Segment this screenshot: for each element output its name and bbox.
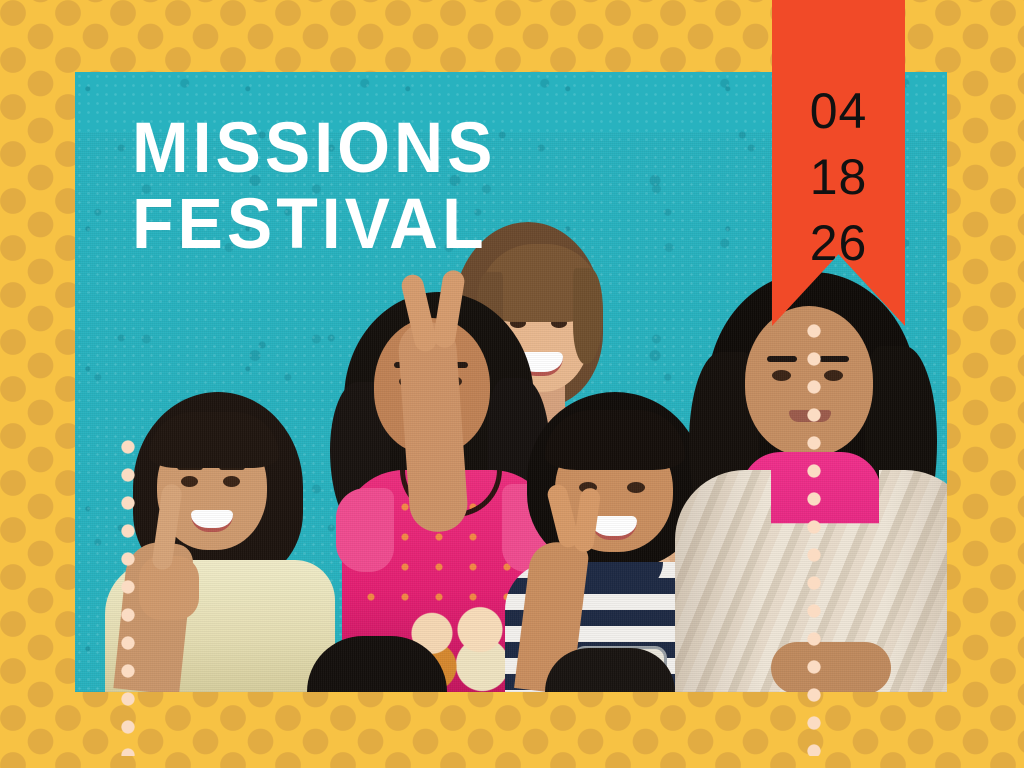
child-striped-fringe	[545, 410, 685, 470]
girl-pink-sleeve-left	[336, 488, 394, 572]
dotted-line-left	[121, 440, 135, 756]
girl-right-eye-left	[772, 370, 791, 381]
girl-right-eye-right	[824, 370, 843, 381]
girl-left-eye-right	[223, 476, 240, 487]
person-girl-left	[105, 392, 335, 692]
girl-left-fringe	[149, 412, 279, 468]
child-striped-smile	[591, 516, 637, 540]
page-title: MISSIONS FESTIVAL	[132, 108, 497, 260]
background-child-head-right	[545, 648, 675, 692]
girl-right-hands	[771, 642, 891, 692]
girl-right-brow-left	[767, 356, 797, 362]
girl-right-brow-right	[819, 356, 849, 362]
girl-left-eye-left	[181, 476, 198, 487]
date-part-day: 18	[810, 144, 868, 210]
date-part-month: 04	[810, 78, 868, 144]
poster-canvas: ★	[0, 0, 1024, 768]
title-line-missions: MISSIONS	[132, 108, 497, 188]
child-striped-eye-right	[627, 482, 645, 493]
title-line-festival: FESTIVAL	[132, 184, 497, 264]
girl-left-smile	[191, 510, 233, 532]
dotted-line-right	[807, 324, 821, 756]
